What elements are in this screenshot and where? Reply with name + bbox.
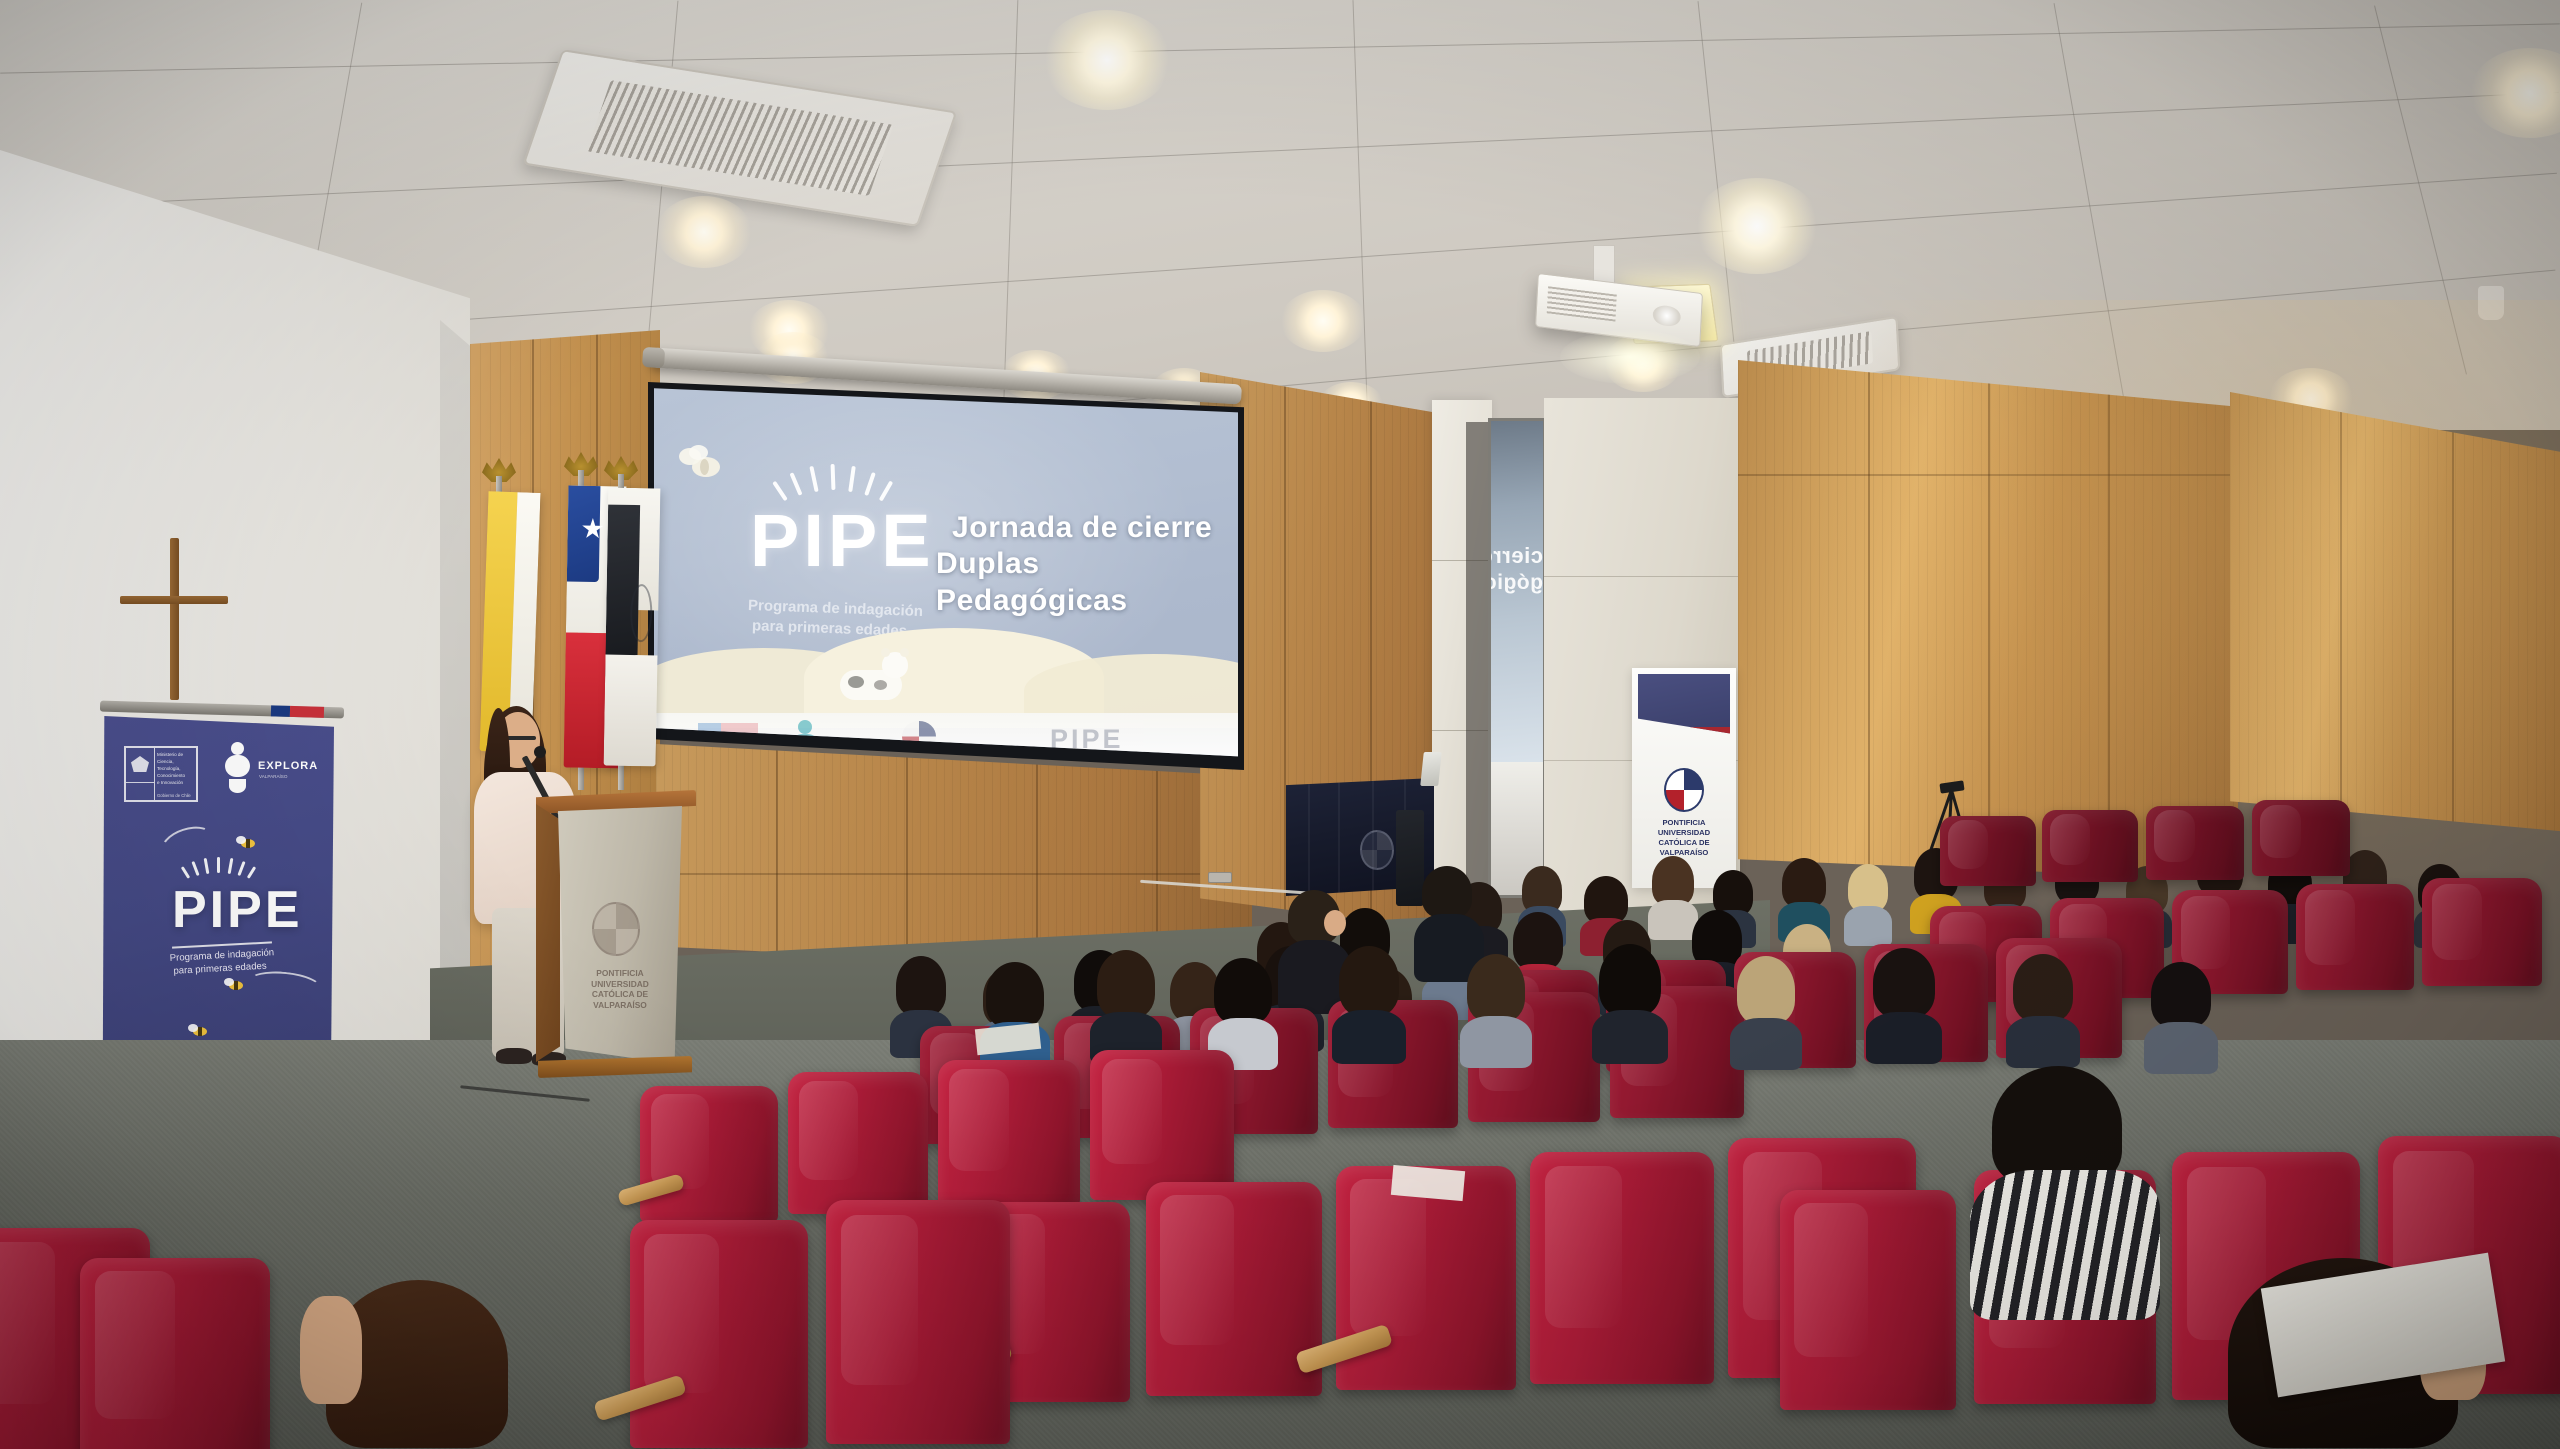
auditorium-seat[interactable] <box>1336 1166 1516 1390</box>
ac-vent-icon <box>523 49 958 227</box>
mirror-reflection-line2: gógicas <box>1491 571 1543 595</box>
auditorium-seat[interactable] <box>826 1200 1010 1444</box>
lectern-institution-name: PONTIFICIA UNIVERSIDAD CATÓLICA DE VALPA… <box>570 968 670 1010</box>
lectern-line-2: UNIVERSIDAD <box>570 979 670 990</box>
audience-member <box>1866 948 1942 1060</box>
audience-member <box>2006 954 2080 1064</box>
wood-panel-far-right-wall <box>2230 392 2560 832</box>
motion-sensor-icon <box>2478 286 2504 320</box>
auditorium-seat[interactable] <box>630 1220 808 1448</box>
lectern-line-1: PONTIFICIA <box>570 968 670 979</box>
auditorium-seat[interactable] <box>1780 1190 1956 1410</box>
audience-member <box>1730 956 1802 1066</box>
slide-headline-1: Jornada de cierre <box>952 510 1212 547</box>
explora-name: EXPLORA <box>258 760 318 772</box>
auditorium-seat[interactable] <box>2252 800 2350 876</box>
projector-beam-glow <box>1560 330 1700 384</box>
banner-subtitle: Programa de indagación para primeras eda… <box>169 943 334 979</box>
bee-illustration <box>676 448 734 482</box>
presenter-shoe <box>496 1048 532 1064</box>
explora-logo-icon <box>220 742 254 798</box>
ministry-logo-block: Ministerio de Ciencia, Tecnología, Conoc… <box>124 746 198 802</box>
projected-slide: PIPE Programa de indagación para primera… <box>654 386 1238 762</box>
ministry-line-5: e Innovación <box>157 780 183 785</box>
microphone-head-icon <box>534 746 546 758</box>
ceiling-downlight-icon <box>1280 290 1366 352</box>
pillar-joint-line <box>1544 576 1740 577</box>
auditorium-seat[interactable] <box>80 1258 270 1449</box>
banner-top-rail <box>100 701 344 719</box>
ministry-line-4: Conocimiento <box>157 773 185 778</box>
audience-member <box>1592 944 1668 1058</box>
mirror-reflection-line1: cierre <box>1491 543 1543 569</box>
auditorium-seat[interactable] <box>2042 810 2138 882</box>
seat-row-foreground-left <box>630 1190 1050 1449</box>
bee-trail-squiggle <box>156 820 220 870</box>
slide-headline-2: Duplas Pedagógicas <box>936 546 1238 619</box>
ceiling-downlight-icon <box>1042 10 1172 110</box>
audience-member-striped <box>1970 1066 2160 1316</box>
ministry-line-2: Ciencia, <box>157 759 174 764</box>
slide-logo: PIPE <box>750 498 935 583</box>
bee-illustration <box>224 978 246 992</box>
auditorium-seat[interactable] <box>1530 1152 1714 1384</box>
ministry-line-3: Tecnología, <box>157 766 181 771</box>
audience-member <box>2144 962 2218 1070</box>
ministry-footer: Gobierno de Chile <box>157 794 191 799</box>
cow-illustration <box>832 648 912 704</box>
bee-illustration <box>236 836 258 850</box>
pucv-crest-icon <box>592 902 640 956</box>
lectern-body: PONTIFICIA UNIVERSIDAD CATÓLICA DE VALPA… <box>558 806 682 1064</box>
auditorium-photo-scene: cierre gógicas <box>0 0 2560 1449</box>
lectern-side <box>536 804 560 1062</box>
projection-screen: PIPE Programa de indagación para primera… <box>640 366 1250 786</box>
audience-member <box>1460 954 1532 1064</box>
ceiling-downlight-icon <box>656 196 752 268</box>
ministry-line-1: Ministerio de <box>157 752 183 757</box>
auditorium-seat[interactable] <box>1940 816 2036 886</box>
ceiling-downlight-icon <box>2470 48 2560 138</box>
auditorium-seat[interactable] <box>2146 806 2244 880</box>
notebook-paper <box>1391 1165 1465 1201</box>
foreground-audience-member <box>300 1280 530 1449</box>
auditorium-seat[interactable] <box>1146 1182 1322 1396</box>
floor-socket-box <box>1208 872 1232 883</box>
pucv-flag <box>604 488 661 767</box>
wooden-crucifix-icon <box>120 538 230 708</box>
explora-sub: VALPARAÍSO <box>259 774 287 779</box>
banner-pipe-logo: PIPE <box>172 880 303 940</box>
ceiling-downlight-icon <box>1694 178 1820 274</box>
bee-trail-squiggle <box>247 968 323 1002</box>
lectern-line-3: CATÓLICA DE <box>570 989 670 1000</box>
lectern-line-4: VALPARAÍSO <box>570 1000 670 1011</box>
